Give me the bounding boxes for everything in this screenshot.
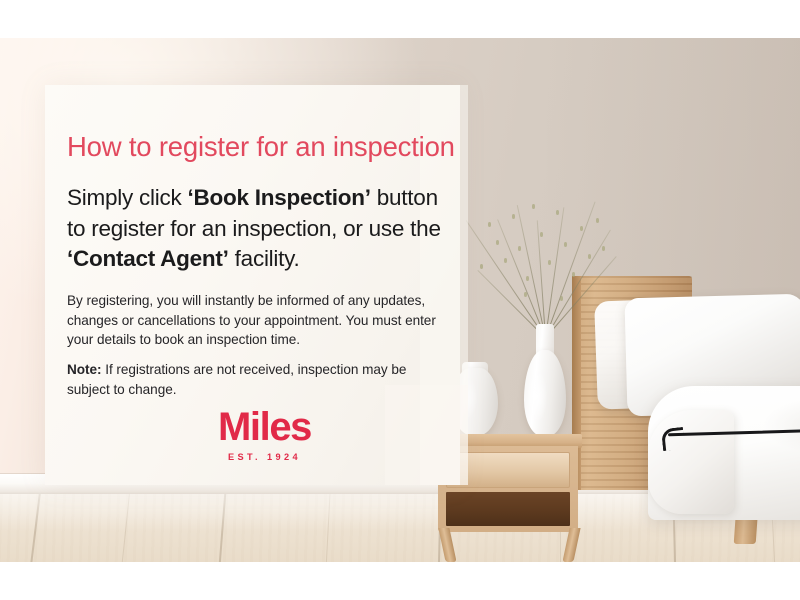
- logo-wordmark: Miles: [67, 405, 462, 449]
- logo-established: EST. 1924: [67, 452, 462, 462]
- vase-tall: [524, 350, 566, 436]
- branch-leaf: [540, 232, 543, 237]
- text-panel: How to register for an inspection Simply…: [45, 85, 468, 485]
- branch-leaf: [512, 214, 515, 219]
- dried-branches: [460, 188, 640, 338]
- branch-leaf: [532, 204, 535, 209]
- branch-leaf: [504, 258, 507, 263]
- branch-leaf: [480, 264, 483, 269]
- lead-part-3: facility.: [229, 246, 300, 271]
- branch-leaf: [602, 246, 605, 251]
- duvet-piping-corner: [661, 427, 685, 451]
- letterbox-bar-bottom: [0, 562, 800, 600]
- miles-logo: Miles EST. 1924: [67, 405, 462, 462]
- branch-leaf: [526, 276, 529, 281]
- lead-part-1: Simply click: [67, 185, 188, 210]
- body-paragraph: By registering, you will instantly be in…: [67, 291, 447, 350]
- branch-leaf: [518, 246, 521, 251]
- nightstand-leg: [562, 528, 580, 562]
- branch-leaf: [496, 240, 499, 245]
- branch-leaf: [548, 260, 551, 265]
- branch-leaf: [572, 272, 575, 277]
- branch-leaf: [556, 210, 559, 215]
- branch-leaf: [588, 254, 591, 259]
- note-text: If registrations are not received, inspe…: [67, 362, 406, 397]
- branch-twig: [545, 202, 596, 339]
- note-label: Note:: [67, 362, 102, 377]
- branch-leaf: [596, 218, 599, 223]
- lead-paragraph: Simply click ‘Book Inspection’ button to…: [67, 183, 459, 275]
- branch-twig: [466, 220, 547, 339]
- contact-agent-label: ‘Contact Agent’: [67, 246, 229, 271]
- branch-leaf: [564, 242, 567, 247]
- branch-twig: [545, 256, 617, 338]
- room-photograph: How to register for an inspection Simply…: [0, 38, 800, 562]
- branch-leaf: [488, 222, 491, 227]
- panel-content: How to register for an inspection Simply…: [67, 85, 462, 485]
- branch-leaf: [560, 296, 563, 301]
- letterbox-bar-top: [0, 0, 800, 38]
- duvet-fold: [648, 410, 734, 514]
- branch-leaf: [580, 226, 583, 231]
- nightstand-shelf: [446, 492, 570, 526]
- page-title: How to register for an inspection: [67, 131, 455, 163]
- note-paragraph: Note: If registrations are not received,…: [67, 360, 447, 399]
- branch-leaf: [524, 292, 527, 297]
- nightstand-leg: [438, 528, 456, 562]
- banner-stage: How to register for an inspection Simply…: [0, 0, 800, 600]
- book-inspection-label: ‘Book Inspection’: [188, 185, 371, 210]
